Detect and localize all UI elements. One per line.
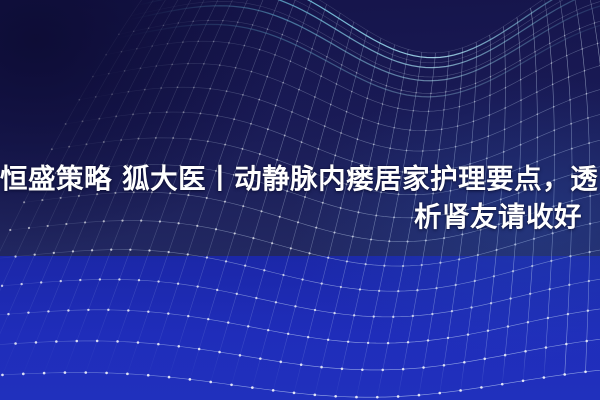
banner-title: 恒盛策略 狐大医丨动静脉内瘘居家护理要点，透 析肾友请收好 [0, 160, 600, 236]
title-line-2: 析肾友请收好 [0, 198, 582, 236]
banner-canvas: 恒盛策略 狐大医丨动静脉内瘘居家护理要点，透 析肾友请收好 [0, 0, 600, 400]
title-line-1: 恒盛策略 狐大医丨动静脉内瘘居家护理要点，透 [0, 160, 582, 198]
